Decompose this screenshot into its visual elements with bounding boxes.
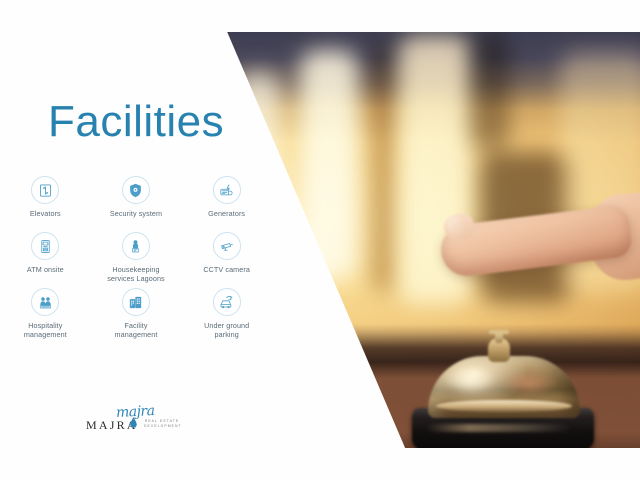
facility-label: Generators (208, 209, 245, 218)
facility-label: Security system (110, 209, 162, 218)
bell-collar (436, 400, 572, 412)
elevator-icon (31, 176, 59, 204)
generator-icon (213, 176, 241, 204)
facility-item-cctv-camera[interactable]: CCTV camera (181, 232, 272, 288)
facility-item-facility-management[interactable]: Facility management (91, 288, 182, 344)
service-bell (404, 330, 604, 448)
page-title: Facilities (48, 100, 224, 144)
facility-item-elevators[interactable]: Elevators (0, 176, 91, 232)
facility-management-icon (122, 288, 150, 316)
bokeh-shadow (372, 42, 398, 292)
facility-label: CCTV camera (203, 265, 250, 274)
facility-item-hospitality-management[interactable]: Hospitality management (0, 288, 91, 344)
bell-cap (489, 330, 509, 334)
presentation-slide: Facilities Elevators (0, 0, 640, 480)
underground-parking-icon (213, 288, 241, 316)
bokeh-shadow (470, 32, 510, 152)
shield-security-icon (122, 176, 150, 204)
facility-label: ATM onsite (27, 265, 64, 274)
facility-label: Elevators (30, 209, 61, 218)
pointing-hand (440, 180, 640, 300)
cctv-camera-icon (213, 232, 241, 260)
bokeh-highlight (300, 50, 358, 280)
facility-label: Housekeeping services Lagoons (107, 265, 165, 284)
bell-dome-highlight (444, 366, 496, 394)
atm-icon (31, 232, 59, 260)
facility-item-security-system[interactable]: Security system (91, 176, 182, 232)
bell-dome-reflection (500, 370, 558, 396)
facility-label: Facility management (115, 321, 158, 340)
facility-item-generators[interactable]: Generators (181, 176, 272, 232)
logo-tagline: REAL ESTATE DEVELOPMENT (144, 419, 180, 428)
bell-base-highlight (426, 424, 572, 432)
facility-label: Under ground parking (204, 321, 249, 340)
logo-wordmark: MAJRA (86, 418, 138, 433)
facility-item-underground-parking[interactable]: Under ground parking (181, 288, 272, 344)
facility-label: Hospitality management (24, 321, 67, 340)
hospitality-icon (31, 288, 59, 316)
housekeeping-icon (122, 232, 150, 260)
facility-item-atm-onsite[interactable]: ATM onsite (0, 232, 91, 288)
facilities-grid: Elevators Security system (0, 176, 272, 344)
facility-item-housekeeping[interactable]: Housekeeping services Lagoons (91, 232, 182, 288)
company-logo[interactable]: majra MAJRA REAL ESTATE DEVELOPMENT (86, 404, 180, 438)
